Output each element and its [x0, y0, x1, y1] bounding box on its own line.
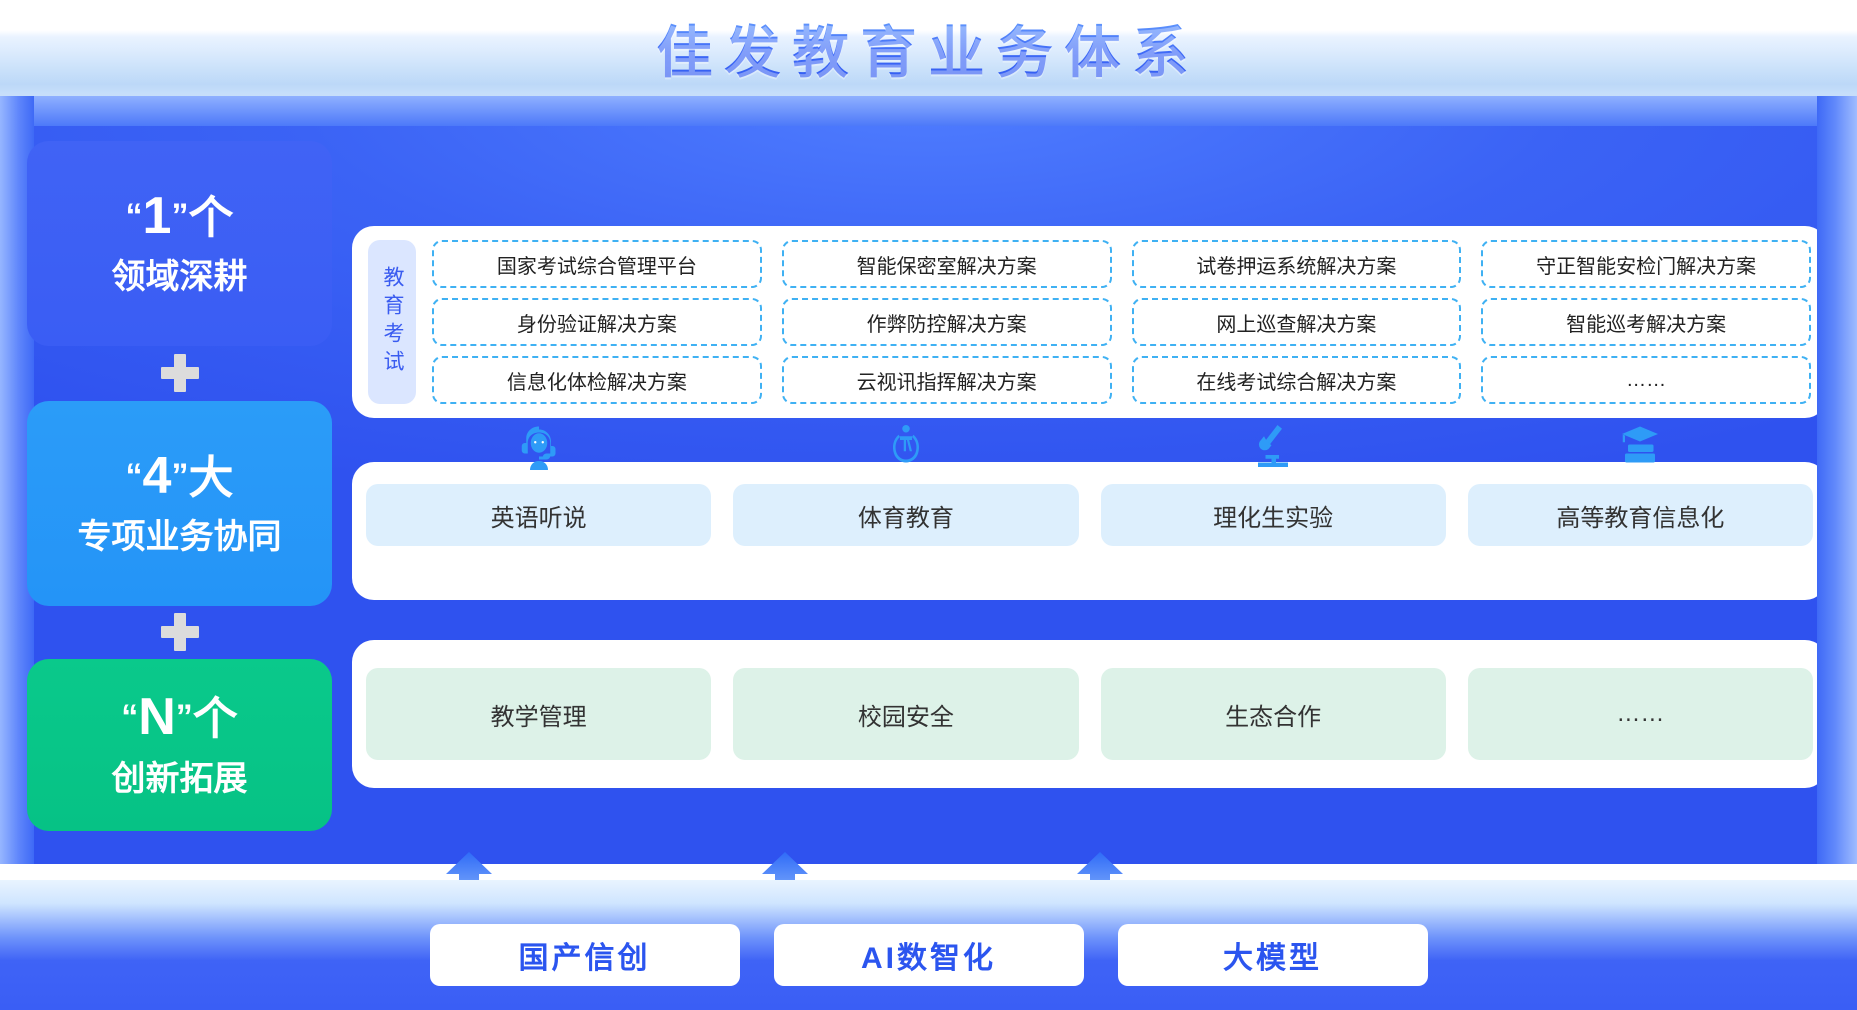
sidebar-item-one-field[interactable]: “1”个 领域深耕 — [27, 141, 332, 346]
plus-icon — [161, 613, 199, 651]
page-title: 佳发教育业务体系 — [0, 8, 1857, 89]
specialty-item-english-label: 英语听说 — [366, 484, 711, 546]
quote-close: ” — [176, 698, 193, 736]
solution-card[interactable]: 智能巡考解决方案 — [1481, 298, 1811, 346]
sidebar-item-n-label: 创新拓展 — [112, 751, 248, 800]
specialty-item-pe-label: 体育教育 — [733, 484, 1078, 546]
footer-button-group: 国产信创 AI数智化 大模型 — [0, 924, 1857, 986]
sidebar-item-n-number: N — [138, 688, 176, 746]
sidebar-item-one-label: 领域深耕 — [112, 249, 248, 298]
quote-close: ” — [171, 457, 188, 495]
sidebar-item-four-label: 专项业务协同 — [78, 509, 282, 558]
panel-education-exam-vertical-label: 教育考试 — [368, 240, 416, 404]
extension-card[interactable]: 生态合作 — [1101, 668, 1446, 760]
sidebar-item-n-unit: 个 — [193, 693, 238, 744]
specialty-item-pe[interactable]: 体育教育 — [733, 416, 1078, 588]
solution-card[interactable]: 智能保密室解决方案 — [782, 240, 1112, 288]
solution-grid: 国家考试综合管理平台 智能保密室解决方案 试卷押运系统解决方案 守正智能安检门解… — [432, 240, 1811, 404]
panel-specialty-business: 英语听说 体育教育 — [352, 462, 1827, 600]
specialty-item-lab[interactable]: 理化生实验 — [1101, 416, 1446, 588]
quote-open: “ — [126, 197, 143, 235]
quote-open: “ — [121, 698, 138, 736]
graduation-cap-books-icon — [1616, 416, 1664, 470]
specialty-item-english[interactable]: 英语听说 — [366, 416, 711, 588]
title-band: 佳发教育业务体系 — [0, 0, 1857, 108]
sidebar-item-n-headline: “N”个 — [121, 690, 238, 745]
footer-button-large-model[interactable]: 大模型 — [1118, 924, 1428, 986]
quote-open: “ — [126, 457, 143, 495]
specialty-item-higher-ed[interactable]: 高等教育信息化 — [1468, 416, 1813, 588]
sidebar-item-four-specialties[interactable]: “4”大 专项业务协同 — [27, 401, 332, 606]
solution-card[interactable]: …… — [1481, 356, 1811, 404]
jump-rope-person-icon — [882, 416, 930, 470]
quote-close: ” — [171, 197, 188, 235]
extension-grid: 教学管理 校园安全 生态合作 …… — [366, 668, 1813, 760]
extension-card[interactable]: 校园安全 — [733, 668, 1078, 760]
sidebar-item-one-number: 1 — [143, 187, 172, 245]
panel-innovation-extension: 教学管理 校园安全 生态合作 …… — [352, 640, 1827, 788]
extension-card[interactable]: 教学管理 — [366, 668, 711, 760]
solution-card[interactable]: 网上巡查解决方案 — [1132, 298, 1462, 346]
footer-foundation-bar: 国产信创 AI数智化 大模型 — [0, 880, 1857, 1010]
sidebar-item-four-unit: 大 — [188, 452, 233, 503]
panel-education-exam: 教育考试 国家考试综合管理平台 智能保密室解决方案 试卷押运系统解决方案 守正智… — [352, 226, 1827, 418]
plus-icon — [161, 354, 199, 392]
solution-card[interactable]: 身份验证解决方案 — [432, 298, 762, 346]
microscope-icon — [1249, 416, 1297, 470]
container-top-highlight — [34, 96, 1817, 126]
footer-button-ai-digital[interactable]: AI数智化 — [774, 924, 1084, 986]
solution-card[interactable]: 在线考试综合解决方案 — [1132, 356, 1462, 404]
sidebar-item-one-headline: “1”个 — [126, 189, 234, 244]
sidebar-item-four-headline: “4”大 — [126, 449, 234, 504]
solution-card[interactable]: 试卷押运系统解决方案 — [1132, 240, 1462, 288]
infographic-root: 佳发教育业务体系 “1”个 领域深耕 “4”大 专项业务协同 — [0, 0, 1857, 1010]
specialty-item-higher-ed-label: 高等教育信息化 — [1468, 484, 1813, 546]
sidebar-item-one-unit: 个 — [188, 192, 233, 243]
sidebar-item-four-number: 4 — [143, 447, 172, 505]
extension-card[interactable]: …… — [1468, 668, 1813, 760]
specialty-item-lab-label: 理化生实验 — [1101, 484, 1446, 546]
solution-card[interactable]: 国家考试综合管理平台 — [432, 240, 762, 288]
headset-operator-icon — [515, 416, 563, 470]
solution-card[interactable]: 守正智能安检门解决方案 — [1481, 240, 1811, 288]
sidebar-item-n-innovation[interactable]: “N”个 创新拓展 — [27, 659, 332, 831]
solution-card[interactable]: 信息化体检解决方案 — [432, 356, 762, 404]
specialty-grid: 英语听说 体育教育 — [366, 416, 1813, 588]
sidebar: “1”个 领域深耕 “4”大 专项业务协同 “N”个 创新拓展 — [27, 141, 332, 831]
footer-button-domestic-innovation[interactable]: 国产信创 — [430, 924, 740, 986]
solution-card[interactable]: 作弊防控解决方案 — [782, 298, 1112, 346]
main-container: “1”个 领域深耕 “4”大 专项业务协同 “N”个 创新拓展 教育考试 — [0, 96, 1857, 864]
solution-card[interactable]: 云视讯指挥解决方案 — [782, 356, 1112, 404]
